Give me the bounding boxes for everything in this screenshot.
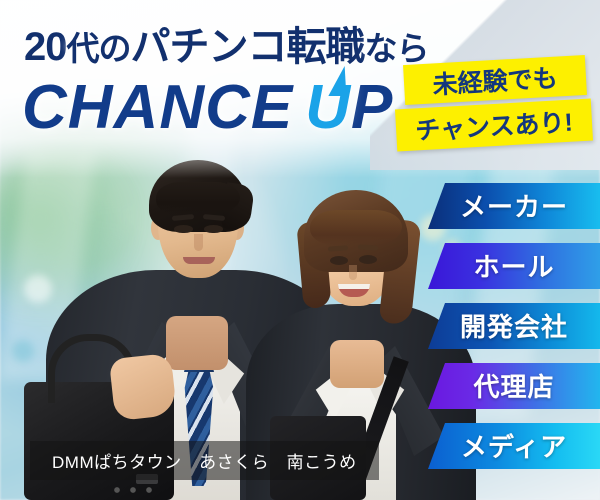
- logo-letter-p: P: [351, 73, 393, 142]
- category-button-media[interactable]: メディア: [428, 423, 600, 469]
- category-label: 代理店: [473, 367, 554, 404]
- category-label: 開発会社: [460, 307, 568, 344]
- category-button-agency[interactable]: 代理店: [428, 363, 600, 409]
- headline-tail: なら: [365, 30, 429, 67]
- background-bokeh: [12, 340, 34, 362]
- category-button-developer[interactable]: 開発会社: [428, 303, 600, 349]
- category-label: メディア: [461, 427, 567, 464]
- logo-word-chance: CHANCE: [22, 73, 293, 142]
- brand-logo: CHANCEUP: [22, 72, 393, 143]
- promo-banner: 20代のパチンコ転職なら CHANCEUP 未経験でも チャンスあり! メーカー…: [0, 0, 600, 500]
- headline-main: パチンコ転職: [131, 25, 365, 69]
- category-label: ホール: [473, 247, 554, 284]
- category-button-maker[interactable]: メーカー: [428, 183, 600, 229]
- category-button-hall[interactable]: ホール: [428, 243, 600, 289]
- headline-lead: 20: [24, 25, 67, 69]
- headline-mid: 代の: [67, 30, 131, 67]
- credits-caption: DMMぱちタウン あさくら 南こうめ: [30, 441, 379, 480]
- page-title: 20代のパチンコ転職なら: [24, 14, 429, 72]
- category-label: メーカー: [460, 187, 568, 224]
